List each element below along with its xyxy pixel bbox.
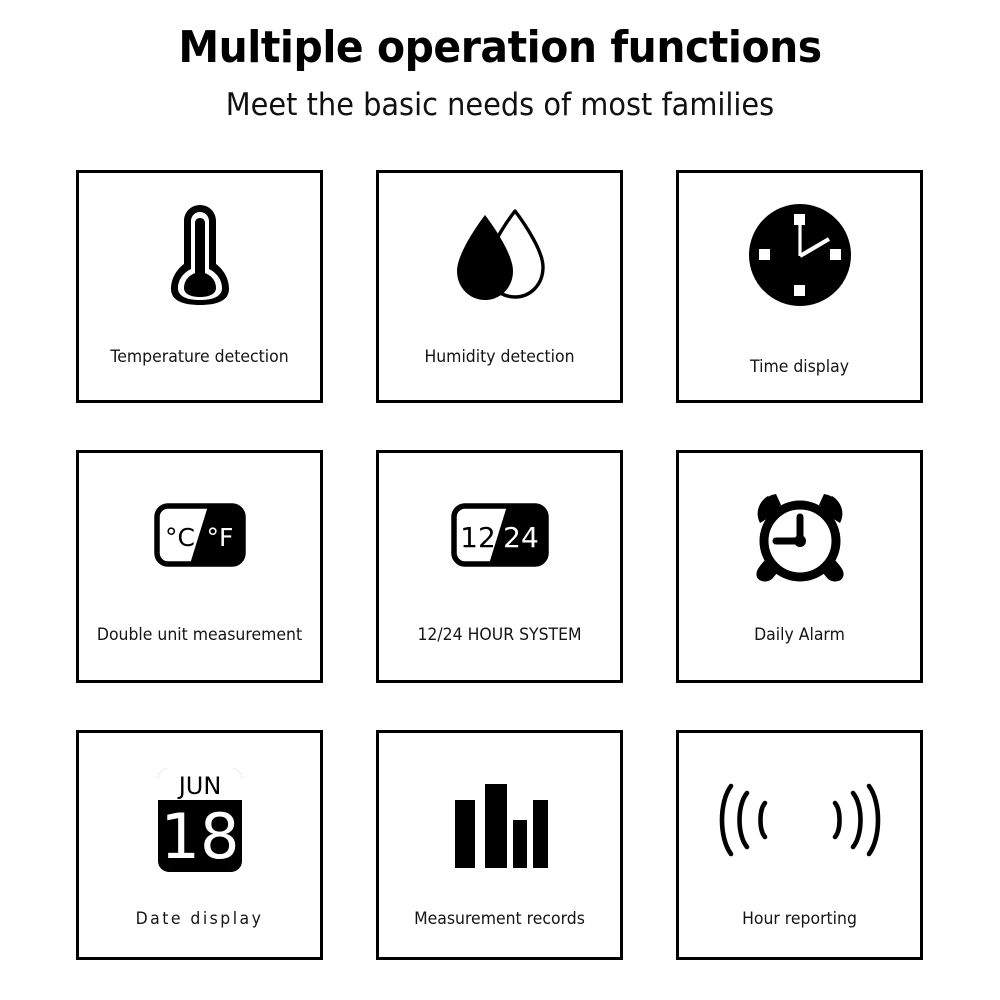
thermometer-icon: [79, 173, 320, 331]
twentyfour-hour-label: 24: [503, 521, 539, 554]
clock-face-icon: [679, 173, 920, 331]
feature-grid-page: Multiple operation functions Meet the ba…: [0, 0, 1000, 1000]
feature-card-label: 12/24 HOUR SYSTEM: [385, 625, 614, 645]
feature-card-label: Temperature detection: [85, 347, 314, 367]
feature-grid: Temperature detection Humidity detection: [76, 170, 923, 960]
header: Multiple operation functions Meet the ba…: [0, 0, 1000, 124]
feature-card-label: Time display: [685, 357, 914, 377]
feature-card-daily-alarm[interactable]: Daily Alarm: [676, 450, 923, 683]
feature-card-label: Hour reporting: [685, 909, 914, 929]
twelve-twentyfour-hour-icon: 12 24: [379, 453, 620, 609]
calendar-month-label: JUN: [176, 772, 221, 800]
celsius-label: °C: [165, 523, 195, 552]
feature-card-label: Double unit measurement: [85, 625, 314, 645]
feature-card-hour-reporting[interactable]: Hour reporting: [676, 730, 923, 960]
twelve-hour-label: 12: [460, 521, 496, 554]
bar-chart-icon: [379, 733, 620, 895]
water-droplets-icon: [379, 173, 620, 331]
feature-card-measurement-records[interactable]: Measurement records: [376, 730, 623, 960]
feature-card-double-unit-measurement[interactable]: °C °F Double unit measurement: [76, 450, 323, 683]
sound-waves-icon: [679, 733, 920, 895]
feature-card-label: Measurement records: [385, 909, 614, 929]
fahrenheit-label: °F: [206, 523, 233, 552]
feature-card-time-display[interactable]: Time display: [676, 170, 923, 403]
feature-card-label: Daily Alarm: [685, 625, 914, 645]
calendar-day-label: 18: [160, 800, 239, 873]
feature-card-label: Date display: [85, 909, 314, 929]
celsius-fahrenheit-icon: °C °F: [79, 453, 320, 609]
feature-card-12-24-hour-system[interactable]: 12 24 12/24 HOUR SYSTEM: [376, 450, 623, 683]
calendar-icon: JUN 18: [79, 733, 320, 895]
page-title: Multiple operation functions: [35, 24, 965, 72]
feature-card-humidity-detection[interactable]: Humidity detection: [376, 170, 623, 403]
feature-card-date-display[interactable]: JUN 18 Date display: [76, 730, 323, 960]
page-subtitle: Meet the basic needs of most families: [35, 88, 965, 124]
feature-card-temperature-detection[interactable]: Temperature detection: [76, 170, 323, 403]
alarm-clock-icon: [679, 453, 920, 609]
feature-card-label: Humidity detection: [385, 347, 614, 367]
